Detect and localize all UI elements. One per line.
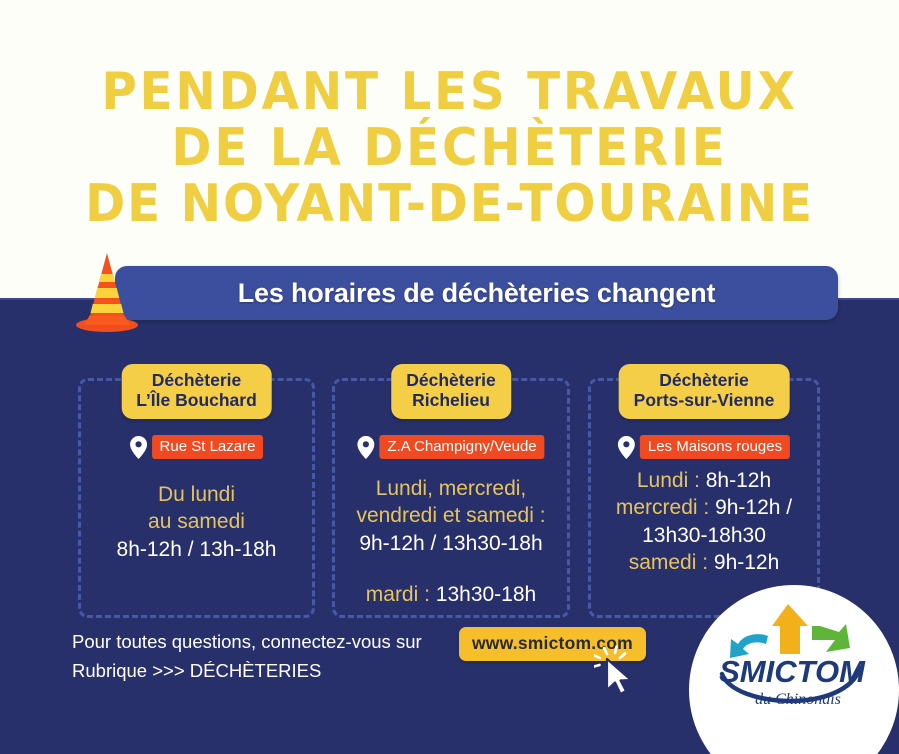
- subtitle-banner-label: Les horaires de déchèteries changent: [238, 278, 715, 309]
- pill-line-1: Déchèterie: [659, 370, 749, 390]
- decheterie-card-2: Déchèterie Richelieu Z.A Champigny/Veude…: [332, 378, 570, 618]
- location-row-1: Rue St Lazare: [130, 435, 264, 459]
- logo-arrow-yellow: [772, 604, 808, 654]
- decheterie-name-pill-2: Déchèterie Richelieu: [391, 364, 511, 419]
- hours-block-2: Lundi, mercredi, vendredi et samedi : 9h…: [335, 475, 567, 608]
- subtitle-banner: Les horaires de déchèteries changent: [115, 266, 838, 320]
- location-row-2: Z.A Champigny/Veude: [357, 435, 544, 459]
- decheterie-card-1: Déchèterie L’Île Bouchard Rue St Lazare …: [78, 378, 315, 618]
- hours-days: au samedi: [148, 510, 245, 533]
- hours-times: 8h-12h: [706, 469, 771, 492]
- hours-days: Lundi :: [637, 469, 706, 492]
- logo-arrow-green: [812, 624, 850, 652]
- pill-line-2: Ports-sur-Vienne: [634, 390, 775, 410]
- hours-days: mercredi :: [616, 496, 715, 519]
- hours-times: 9h-12h /: [715, 496, 792, 519]
- location-badge-3: Les Maisons rouges: [640, 435, 790, 459]
- hours-times: 13h30-18h: [436, 583, 536, 606]
- location-badge-1: Rue St Lazare: [152, 435, 264, 459]
- hours-times: 13h30-18h30: [642, 524, 766, 547]
- map-pin-icon: [618, 436, 635, 459]
- headline-line-3: DE NOYANT-DE-TOURAINE: [31, 178, 867, 230]
- hours-times: 9h-12h: [714, 551, 779, 574]
- map-pin-icon: [130, 436, 147, 459]
- pill-line-1: Déchèterie: [406, 370, 496, 390]
- poster-root: PENDANT LES TRAVAUX DE LA DÉCHÈTERIE DE …: [0, 0, 899, 754]
- hours-days: mardi :: [366, 583, 436, 606]
- hours-group-2-b: mardi : 13h30-18h: [335, 581, 567, 608]
- pill-line-1: Déchèterie: [152, 370, 242, 390]
- decheterie-name-pill-3: Déchèterie Ports-sur-Vienne: [619, 364, 790, 419]
- mouse-cursor-icon: [594, 645, 640, 695]
- location-row-3: Les Maisons rouges: [618, 435, 790, 459]
- pill-line-2: Richelieu: [412, 390, 490, 410]
- hours-times: 9h-12h / 13h30-18h: [359, 532, 542, 555]
- smictom-logo: SMICTOM du Chinonais: [700, 596, 890, 726]
- hours-block-3: Lundi : 8h-12h mercredi : 9h-12h / 13h30…: [591, 467, 817, 576]
- hours-days: Du lundi: [158, 483, 235, 506]
- hours-block-1: Du lundi au samedi 8h-12h / 13h-18h: [81, 481, 312, 563]
- traffic-cone-icon: [72, 247, 142, 333]
- page-title: PENDANT LES TRAVAUX DE LA DÉCHÈTERIE DE …: [31, 66, 867, 230]
- pill-line-2: L’Île Bouchard: [136, 390, 257, 410]
- hours-days: Lundi, mercredi,: [376, 477, 527, 500]
- decheterie-card-3: Déchèterie Ports-sur-Vienne Les Maisons …: [588, 378, 820, 618]
- logo-wordmark: SMICTOM: [719, 654, 866, 689]
- decheterie-name-pill-1: Déchèterie L’Île Bouchard: [121, 364, 272, 419]
- headline-line-2: DE LA DÉCHÈTERIE: [31, 122, 867, 174]
- headline-line-1: PENDANT LES TRAVAUX: [31, 66, 867, 118]
- location-badge-2: Z.A Champigny/Veude: [379, 435, 544, 459]
- hours-days: vendredi et samedi :: [356, 504, 545, 527]
- map-pin-icon: [357, 436, 374, 459]
- hours-group-2-a: Lundi, mercredi, vendredi et samedi : 9h…: [335, 475, 567, 557]
- hours-group-1-a: Du lundi au samedi 8h-12h / 13h-18h: [81, 481, 312, 563]
- hours-days: samedi :: [629, 551, 714, 574]
- logo-subtitle: du Chinonais: [755, 691, 841, 708]
- hours-group-3-a: Lundi : 8h-12h mercredi : 9h-12h / 13h30…: [591, 467, 817, 576]
- hours-times: 8h-12h / 13h-18h: [117, 538, 277, 561]
